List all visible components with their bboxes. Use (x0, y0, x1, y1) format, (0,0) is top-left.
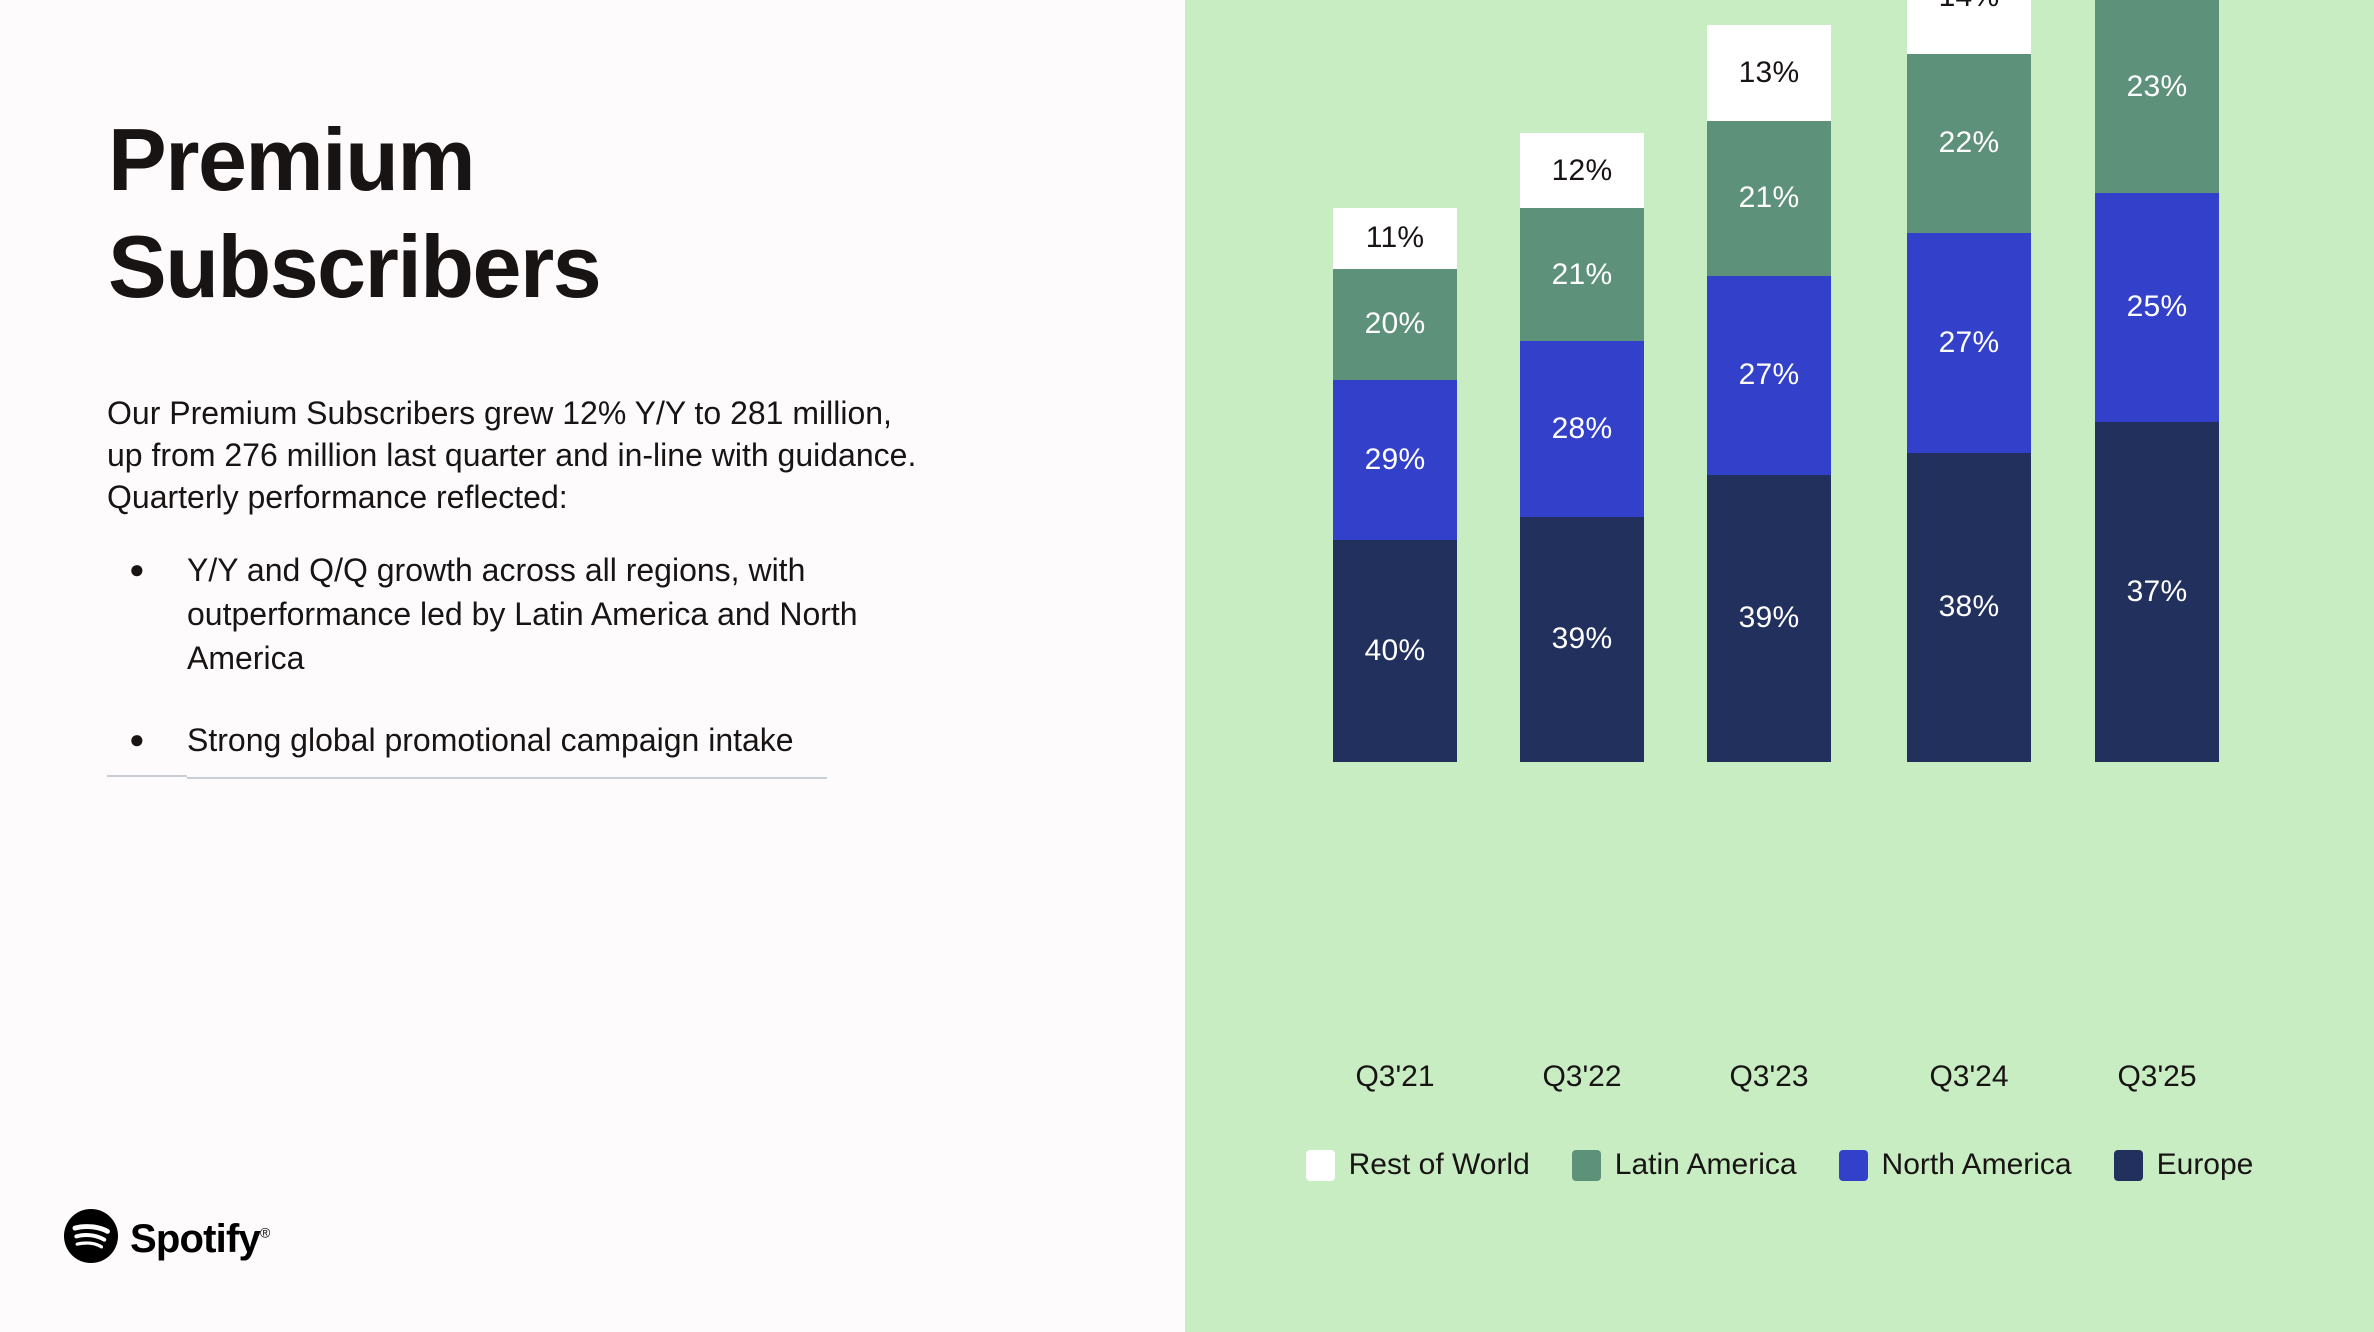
bullet-list: ● Y/Y and Q/Q growth across all regions,… (107, 548, 937, 779)
bar-segment-label: 11% (1366, 221, 1424, 255)
bar-segment-label: 25% (2127, 290, 2188, 324)
spotify-logo: Spotify® (64, 1209, 270, 1268)
bar-segment-na: 25% (2095, 193, 2219, 423)
legend-swatch-icon (1572, 1150, 1601, 1181)
bar-segment-label: 14% (1939, 0, 2000, 14)
bar-segment-label: 21% (1739, 181, 1800, 215)
bar-segment-label: 20% (1365, 307, 1426, 341)
bar-segment-latam: 20% (1333, 269, 1457, 380)
intro-paragraph: Our Premium Subscribers grew 12% Y/Y to … (107, 392, 922, 519)
bar-segment-eu: 40% (1333, 540, 1457, 762)
legend-label: Latin America (1615, 1148, 1797, 1182)
bar-Q324: 14%22%27%38% (1907, 0, 2031, 762)
x-axis-label: Q3'25 (2095, 1060, 2219, 1094)
bar-segment-na: 27% (1907, 233, 2031, 453)
legend-item-eu[interactable]: Europe (2114, 1148, 2254, 1182)
bar-segment-label: 22% (1939, 126, 2000, 160)
bar-segment-label: 40% (1365, 634, 1426, 668)
legend-swatch-icon (1306, 1150, 1335, 1181)
legend-swatch-icon (1839, 1150, 1868, 1181)
bar-segment-eu: 39% (1707, 475, 1831, 762)
bar-Q321: 11%20%29%40% (1333, 208, 1457, 762)
list-item: ● Strong global promotional campaign int… (107, 718, 937, 778)
bar-segment-rest: 13% (1707, 25, 1831, 121)
page-title-line-1: Premium (108, 106, 968, 213)
spotify-wordmark-text: Spotify (130, 1217, 260, 1261)
bar-Q323: 13%21%27%39% (1707, 25, 1831, 762)
x-axis-label: Q3'22 (1520, 1060, 1644, 1094)
left-content-panel: Premium Subscribers Our Premium Subscrib… (0, 0, 1185, 1332)
page-title: Premium Subscribers (108, 106, 968, 321)
spotify-logo-icon (64, 1209, 118, 1268)
chart-panel: 11%20%29%40%Q3'2112%21%28%39%Q3'2213%21%… (1185, 0, 2374, 1332)
bar-segment-label: 38% (1939, 590, 2000, 624)
bar-segment-eu: 39% (1520, 517, 1644, 762)
bar-segment-label: 21% (1552, 258, 1613, 292)
bar-segment-label: 39% (1739, 601, 1800, 635)
bar-segment-na: 27% (1707, 276, 1831, 475)
x-axis-label: Q3'23 (1707, 1060, 1831, 1094)
bar-segment-label: 37% (2127, 575, 2188, 609)
bar-segment-na: 29% (1333, 380, 1457, 541)
legend-item-na[interactable]: North America (1839, 1148, 2072, 1182)
legend-label: Rest of World (1349, 1148, 1530, 1182)
bar-segment-label: 23% (2127, 70, 2188, 104)
bar-segment-latam: 22% (1907, 54, 2031, 233)
legend-item-latam[interactable]: Latin America (1572, 1148, 1797, 1182)
bar-segment-label: 39% (1552, 622, 1613, 656)
bar-segment-latam: 21% (1707, 121, 1831, 276)
list-item: ● Y/Y and Q/Q growth across all regions,… (107, 548, 937, 680)
bar-segment-latam: 23% (2095, 0, 2219, 193)
bar-segment-rest: 14% (1907, 0, 2031, 54)
bar-segment-label: 13% (1739, 56, 1800, 90)
bar-segment-latam: 21% (1520, 208, 1644, 340)
list-item-label: Strong global promotional campaign intak… (187, 718, 827, 778)
legend-item-rest[interactable]: Rest of World (1306, 1148, 1530, 1182)
bullet-dot-icon: ● (107, 718, 187, 776)
bar-segment-rest: 12% (1520, 133, 1644, 208)
bar-segment-eu: 38% (1907, 453, 2031, 762)
bar-segment-label: 12% (1552, 154, 1613, 188)
legend-label: Europe (2157, 1148, 2254, 1182)
list-item-label: Y/Y and Q/Q growth across all regions, w… (187, 548, 937, 680)
chart-legend: Rest of WorldLatin AmericaNorth AmericaE… (1185, 1148, 2374, 1182)
x-axis-label: Q3'21 (1333, 1060, 1457, 1094)
bar-Q322: 12%21%28%39% (1520, 133, 1644, 762)
bullet-dot-icon: ● (107, 548, 187, 590)
legend-swatch-icon (2114, 1150, 2143, 1181)
registered-mark-icon: ® (260, 1224, 270, 1240)
bar-segment-label: 28% (1552, 412, 1613, 446)
slide-root: Premium Subscribers Our Premium Subscrib… (0, 0, 2374, 1332)
bar-Q325: 14%23%25%37% (2095, 0, 2219, 762)
page-title-line-2: Subscribers (108, 213, 968, 320)
spotify-wordmark: Spotify® (130, 1219, 270, 1259)
bar-segment-eu: 37% (2095, 422, 2219, 762)
x-axis-label: Q3'24 (1907, 1060, 2031, 1094)
stacked-bar-chart: 11%20%29%40%Q3'2112%21%28%39%Q3'2213%21%… (1185, 0, 2374, 1047)
bar-segment-label: 27% (1939, 326, 2000, 360)
bar-segment-rest: 11% (1333, 208, 1457, 269)
bar-segment-na: 28% (1520, 341, 1644, 517)
legend-label: North America (1882, 1148, 2072, 1182)
bar-segment-label: 27% (1739, 358, 1800, 392)
bar-segment-label: 29% (1365, 443, 1426, 477)
